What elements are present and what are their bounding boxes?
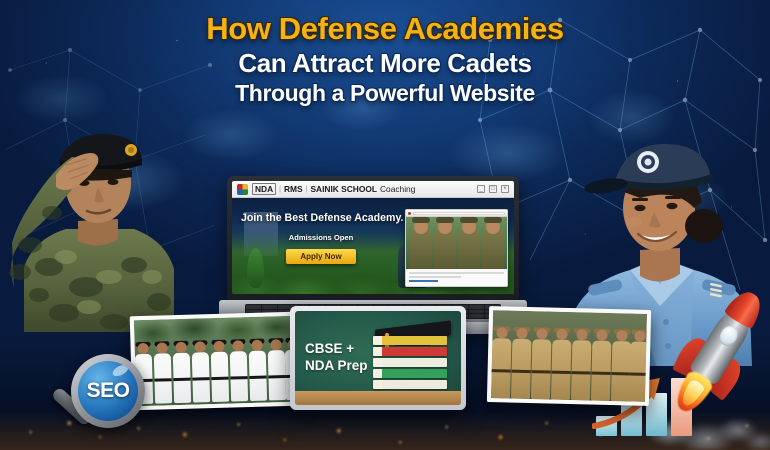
book [373, 347, 447, 356]
tablet-mockup: CBSE + NDA Prep [290, 306, 466, 410]
headline-line-3: Through a Powerful Website [0, 82, 770, 105]
video-caption-area [406, 269, 507, 287]
close-icon[interactable]: × [501, 185, 509, 193]
website-hero-section: Join the Best Defense Academy. Admission… [232, 198, 514, 294]
brand-coaching: Coaching [380, 184, 415, 194]
khaki-cadet [571, 330, 592, 400]
video-cadet [434, 229, 456, 269]
khaki-cadet [531, 329, 552, 399]
book [373, 380, 447, 389]
video-window-titlebar [406, 210, 507, 217]
tablet-text-block: CBSE + NDA Prep [305, 341, 368, 375]
maximize-icon[interactable]: □ [489, 185, 497, 193]
book [373, 369, 447, 378]
video-thumbnail-cadets [406, 217, 507, 269]
window-controls[interactable]: _ □ × [477, 185, 509, 193]
book [373, 336, 447, 345]
navy-cadet [211, 344, 230, 402]
book [373, 358, 447, 367]
brand-sep-2: | [306, 186, 308, 193]
minimize-icon[interactable]: _ [477, 185, 485, 193]
tablet-screen: CBSE + NDA Prep [295, 311, 461, 405]
brand-nda: NDA [252, 183, 276, 195]
navy-cadet [154, 345, 173, 403]
khaki-cadet [491, 328, 512, 398]
tablet-line-2: NDA Prep [305, 358, 368, 375]
navy-cadet [268, 342, 287, 400]
apply-now-button[interactable]: Apply Now [286, 249, 355, 264]
tablet-line-1: CBSE + [305, 341, 368, 358]
hero-subtitle: Admissions Open [241, 233, 401, 242]
caption-line [409, 272, 504, 274]
stacked-books-icon [373, 334, 447, 389]
saluting-soldier-photo [0, 117, 209, 332]
brand-sainik-school: SAINIK SCHOOL [310, 184, 377, 194]
seo-badge[interactable]: SEO [57, 352, 149, 444]
video-cadet [482, 229, 504, 269]
video-cadet [458, 229, 480, 269]
khaki-cadet [551, 330, 572, 400]
laptop-screen: NDA | RMS | SAINIK SCHOOL Coaching _ □ × [232, 181, 514, 294]
khaki-cadets-photo-inner [491, 310, 647, 402]
khaki-cadets-photo [487, 306, 651, 406]
seo-label: SEO [87, 379, 130, 403]
navy-cadets-photo [130, 312, 299, 411]
caption-line-highlight [409, 280, 438, 282]
navy-cadet [249, 343, 268, 401]
headline-line-1: How Defense Academies [0, 13, 770, 44]
video-window-dot-icon [408, 212, 411, 215]
brand-rms: RMS [284, 184, 303, 194]
headline-block: How Defense Academies Can Attract More C… [0, 13, 770, 105]
navy-cadet [230, 343, 249, 401]
headline-line-2: Can Attract More Cadets [0, 50, 770, 76]
hero-video-window[interactable] [405, 209, 508, 287]
brand-sep-1: | [279, 186, 281, 193]
promo-banner: How Defense Academies Can Attract More C… [0, 0, 770, 450]
website-brand-title: NDA | RMS | SAINIK SCHOOL Coaching [252, 183, 415, 195]
nda-emblem-logo [237, 184, 248, 195]
website-topbar: NDA | RMS | SAINIK SCHOOL Coaching _ □ × [232, 181, 514, 198]
hero-title: Join the Best Defense Academy. [241, 212, 401, 224]
caption-line [409, 276, 461, 278]
khaki-cadet [629, 331, 647, 401]
hero-copy-block: Join the Best Defense Academy. Admission… [241, 212, 401, 264]
navy-cadet [192, 344, 211, 402]
navy-cadet [173, 345, 192, 403]
magnifying-glass-icon: SEO [71, 354, 145, 428]
magnifier-lens: SEO [78, 361, 138, 421]
khaki-cadet [591, 331, 612, 401]
video-window-urlbar[interactable] [413, 212, 505, 215]
laptop-lid: NDA | RMS | SAINIK SCHOOL Coaching _ □ × [227, 176, 519, 300]
video-cadet [410, 229, 432, 269]
khaki-cadet [511, 329, 532, 399]
navy-cadets-photo-inner [134, 316, 294, 406]
tablet-desk-surface [295, 391, 461, 405]
